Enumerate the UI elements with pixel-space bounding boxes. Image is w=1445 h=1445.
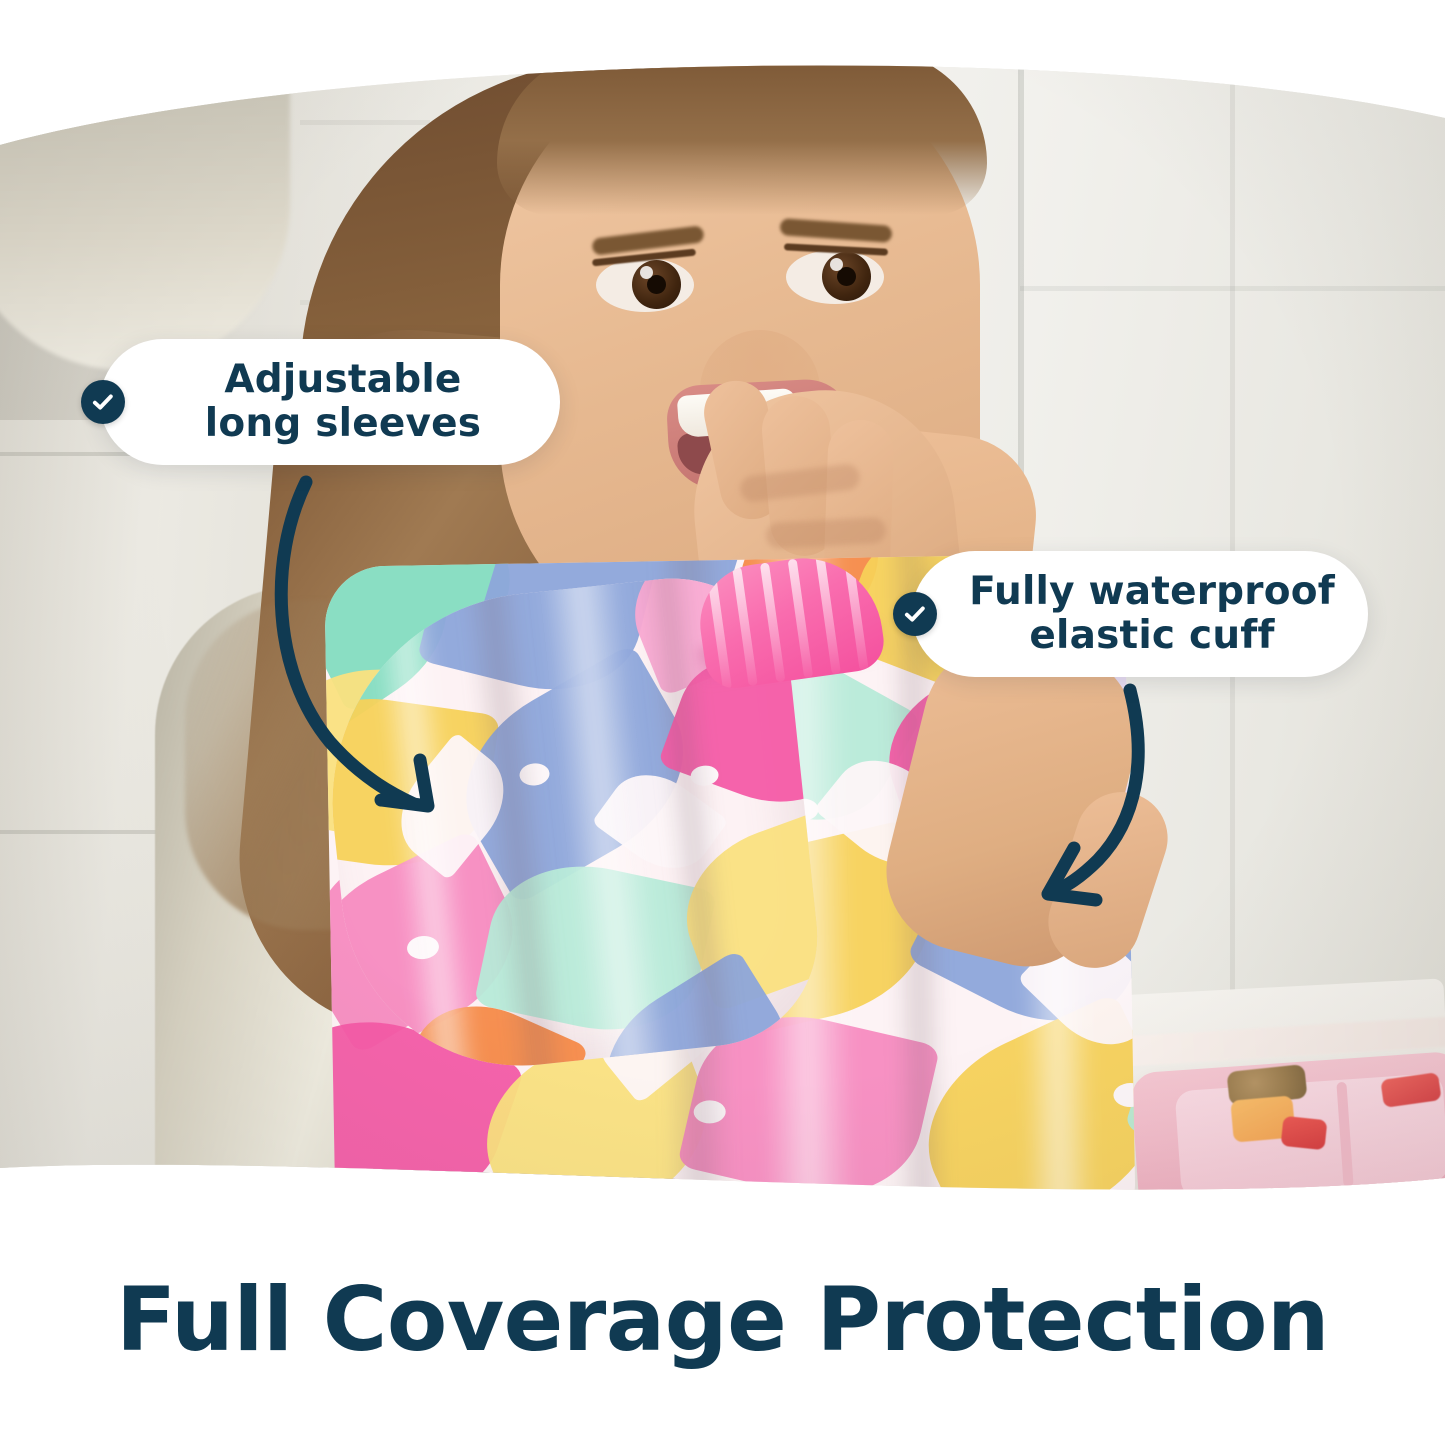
- callout-badge-fully-waterproof-elastic-cuff[interactable]: Fully waterproof elastic cuff: [912, 551, 1368, 677]
- callout-label-sleeves: Adjustable long sleeves: [205, 358, 481, 447]
- check-circle-icon: [893, 592, 937, 636]
- eye-highlight: [640, 266, 653, 279]
- hair-fringe: [497, 50, 987, 215]
- callout-label-cuff: Fully waterproof elastic cuff: [969, 570, 1335, 659]
- eye-highlight: [830, 258, 843, 271]
- check-circle-icon: [81, 380, 125, 424]
- callout-badge-adjustable-long-sleeves[interactable]: Adjustable long sleeves: [100, 339, 560, 465]
- product-feature-graphic: Adjustable long sleeves Fully waterproof…: [0, 0, 1445, 1445]
- page-title: Full Coverage Protection: [0, 1276, 1445, 1364]
